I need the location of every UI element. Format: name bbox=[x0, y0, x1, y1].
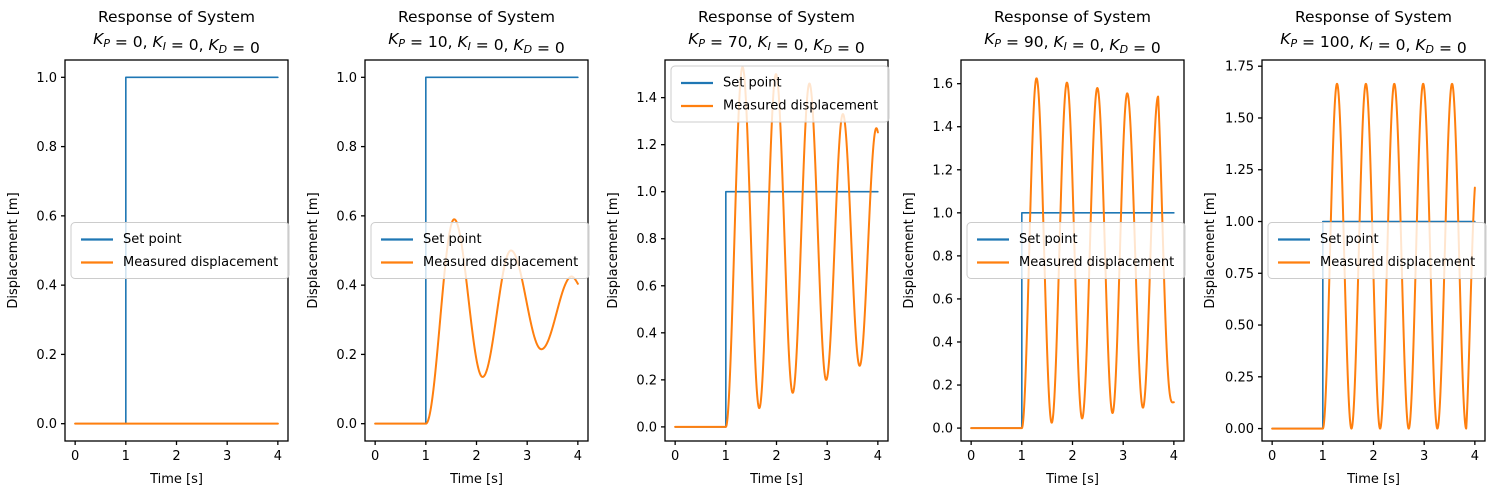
y-tick-label: 0.0 bbox=[336, 417, 357, 432]
x-tick-label: 3 bbox=[1119, 449, 1127, 464]
y-tick-label: 1.4 bbox=[636, 91, 657, 106]
y-tick-label: 0.2 bbox=[336, 348, 357, 363]
x-tick-label: 1 bbox=[1319, 449, 1327, 464]
y-tick-label: 0.6 bbox=[932, 292, 953, 307]
subplot-title: Response of SystemKP = 100, KI = 0, KD =… bbox=[1280, 8, 1466, 57]
subplot-title: Response of SystemKP = 0, KI = 0, KD = 0 bbox=[93, 8, 260, 57]
legend: Set pointMeasured displacement bbox=[71, 223, 289, 279]
title-params-text: KP = 90, KI = 0, KD = 0 bbox=[984, 30, 1161, 57]
legend-label: Measured displacement bbox=[423, 255, 578, 270]
series-set-point bbox=[675, 192, 878, 427]
y-tick-label: 0.8 bbox=[336, 140, 357, 155]
y-axis-label: Displacement [m] bbox=[306, 192, 321, 308]
x-tick-label: 2 bbox=[172, 449, 180, 464]
x-axis-label: Time [s] bbox=[149, 472, 203, 487]
x-tick-label: 1 bbox=[1018, 449, 1026, 464]
y-tick-label: 1.0 bbox=[336, 71, 357, 86]
subplot-title: Response of SystemKP = 70, KI = 0, KD = … bbox=[688, 8, 865, 57]
x-tick-label: 1 bbox=[722, 449, 730, 464]
x-tick-label: 0 bbox=[371, 449, 379, 464]
y-tick-label: 1.2 bbox=[932, 163, 953, 178]
y-axis: 0.000.250.500.751.001.251.501.75Displace… bbox=[1203, 60, 1262, 437]
title-main-text: Response of System bbox=[1295, 8, 1452, 26]
x-tick-label: 3 bbox=[823, 449, 831, 464]
y-axis: 0.00.20.40.60.81.01.21.41.6Displacement … bbox=[902, 77, 961, 436]
y-tick-label: 0.8 bbox=[36, 140, 57, 155]
legend-label: Set point bbox=[723, 76, 782, 91]
x-tick-label: 2 bbox=[472, 449, 480, 464]
y-tick-label: 1.0 bbox=[36, 71, 57, 86]
x-tick-label: 0 bbox=[1268, 449, 1276, 464]
legend: Set pointMeasured displacement bbox=[671, 66, 889, 122]
title-params-text: KP = 70, KI = 0, KD = 0 bbox=[688, 30, 865, 57]
x-axis: 01234Time [s] bbox=[967, 441, 1178, 487]
title-main-text: Response of System bbox=[398, 8, 555, 26]
x-tick-label: 1 bbox=[122, 449, 130, 464]
legend-label: Set point bbox=[423, 232, 482, 247]
x-tick-label: 3 bbox=[523, 449, 531, 464]
subplot-3: Response of SystemKP = 70, KI = 0, KD = … bbox=[600, 0, 900, 500]
y-axis-label: Displacement [m] bbox=[902, 192, 917, 308]
subplot-5: Response of SystemKP = 100, KI = 0, KD =… bbox=[1200, 0, 1500, 500]
legend-label: Measured displacement bbox=[1320, 255, 1475, 270]
legend: Set pointMeasured displacement bbox=[371, 223, 589, 279]
y-tick-label: 0.0 bbox=[36, 417, 57, 432]
y-tick-label: 0.2 bbox=[636, 373, 657, 388]
x-axis-label: Time [s] bbox=[749, 472, 803, 487]
x-axis: 01234Time [s] bbox=[371, 441, 582, 487]
x-tick-label: 4 bbox=[1170, 449, 1178, 464]
y-tick-label: 1.75 bbox=[1225, 60, 1254, 75]
x-tick-label: 0 bbox=[967, 449, 975, 464]
x-axis-label: Time [s] bbox=[1346, 472, 1400, 487]
y-tick-label: 0.0 bbox=[636, 420, 657, 435]
y-tick-label: 0.8 bbox=[636, 232, 657, 247]
y-tick-label: 0.6 bbox=[36, 209, 57, 224]
legend-label: Measured displacement bbox=[123, 255, 278, 270]
x-axis: 01234Time [s] bbox=[671, 441, 882, 487]
title-params-text: KP = 0, KI = 0, KD = 0 bbox=[93, 30, 260, 57]
x-tick-label: 1 bbox=[422, 449, 430, 464]
y-tick-label: 0.50 bbox=[1225, 319, 1254, 334]
figure-canvas: Response of SystemKP = 0, KI = 0, KD = 0… bbox=[0, 0, 1500, 500]
y-tick-label: 1.25 bbox=[1225, 163, 1254, 178]
y-tick-label: 0.4 bbox=[36, 279, 57, 294]
legend: Set pointMeasured displacement bbox=[1268, 223, 1486, 279]
legend-label: Measured displacement bbox=[1019, 255, 1174, 270]
legend-label: Set point bbox=[123, 232, 182, 247]
y-tick-label: 0.2 bbox=[36, 348, 57, 363]
x-axis: 01234Time [s] bbox=[71, 441, 282, 487]
x-tick-label: 4 bbox=[874, 449, 882, 464]
y-tick-label: 0.6 bbox=[636, 279, 657, 294]
y-tick-label: 0.2 bbox=[932, 379, 953, 394]
title-main-text: Response of System bbox=[994, 8, 1151, 26]
y-axis: 0.00.20.40.60.81.01.21.4Displacement [m] bbox=[606, 91, 665, 435]
y-axis-label: Displacement [m] bbox=[1203, 192, 1218, 308]
legend-label: Set point bbox=[1320, 232, 1379, 247]
x-axis-label: Time [s] bbox=[449, 472, 503, 487]
x-axis-label: Time [s] bbox=[1045, 472, 1099, 487]
y-axis: 0.00.20.40.60.81.0Displacement [m] bbox=[6, 71, 65, 432]
y-axis-label: Displacement [m] bbox=[606, 192, 621, 308]
y-tick-label: 1.00 bbox=[1225, 215, 1254, 230]
x-tick-label: 4 bbox=[574, 449, 582, 464]
x-tick-label: 4 bbox=[1471, 449, 1479, 464]
y-tick-label: 1.6 bbox=[932, 77, 953, 92]
y-tick-label: 0.75 bbox=[1225, 267, 1254, 282]
x-tick-label: 4 bbox=[274, 449, 282, 464]
y-axis: 0.00.20.40.60.81.0Displacement [m] bbox=[306, 71, 365, 432]
y-tick-label: 1.0 bbox=[932, 206, 953, 221]
subplot-title: Response of SystemKP = 10, KI = 0, KD = … bbox=[388, 8, 565, 57]
title-main-text: Response of System bbox=[98, 8, 255, 26]
y-tick-label: 1.0 bbox=[636, 185, 657, 200]
y-tick-label: 0.4 bbox=[336, 279, 357, 294]
y-tick-label: 0.0 bbox=[932, 422, 953, 437]
x-tick-label: 2 bbox=[1068, 449, 1076, 464]
y-tick-label: 0.25 bbox=[1225, 370, 1254, 385]
x-tick-label: 0 bbox=[671, 449, 679, 464]
x-tick-label: 2 bbox=[1369, 449, 1377, 464]
y-tick-label: 0.4 bbox=[932, 335, 953, 350]
subplot-1: Response of SystemKP = 0, KI = 0, KD = 0… bbox=[0, 0, 300, 500]
x-axis: 01234Time [s] bbox=[1268, 441, 1479, 487]
subplot-2: Response of SystemKP = 10, KI = 0, KD = … bbox=[300, 0, 600, 500]
x-tick-label: 2 bbox=[772, 449, 780, 464]
y-tick-label: 1.4 bbox=[932, 120, 953, 135]
legend-label: Measured displacement bbox=[723, 99, 878, 114]
y-axis-label: Displacement [m] bbox=[6, 192, 21, 308]
y-tick-label: 0.8 bbox=[932, 249, 953, 264]
title-params-text: KP = 10, KI = 0, KD = 0 bbox=[388, 30, 565, 57]
title-main-text: Response of System bbox=[698, 8, 855, 26]
subplot-title: Response of SystemKP = 90, KI = 0, KD = … bbox=[984, 8, 1161, 57]
y-tick-label: 0.4 bbox=[636, 326, 657, 341]
y-tick-label: 1.2 bbox=[636, 138, 657, 153]
legend-label: Set point bbox=[1019, 232, 1078, 247]
legend: Set pointMeasured displacement bbox=[967, 223, 1185, 279]
x-tick-label: 0 bbox=[71, 449, 79, 464]
subplot-4: Response of SystemKP = 90, KI = 0, KD = … bbox=[900, 0, 1200, 500]
x-tick-label: 3 bbox=[1420, 449, 1428, 464]
y-tick-label: 1.50 bbox=[1225, 111, 1254, 126]
y-tick-label: 0.6 bbox=[336, 209, 357, 224]
x-tick-label: 3 bbox=[223, 449, 231, 464]
title-params-text: KP = 100, KI = 0, KD = 0 bbox=[1280, 30, 1466, 57]
y-tick-label: 0.00 bbox=[1225, 422, 1254, 437]
